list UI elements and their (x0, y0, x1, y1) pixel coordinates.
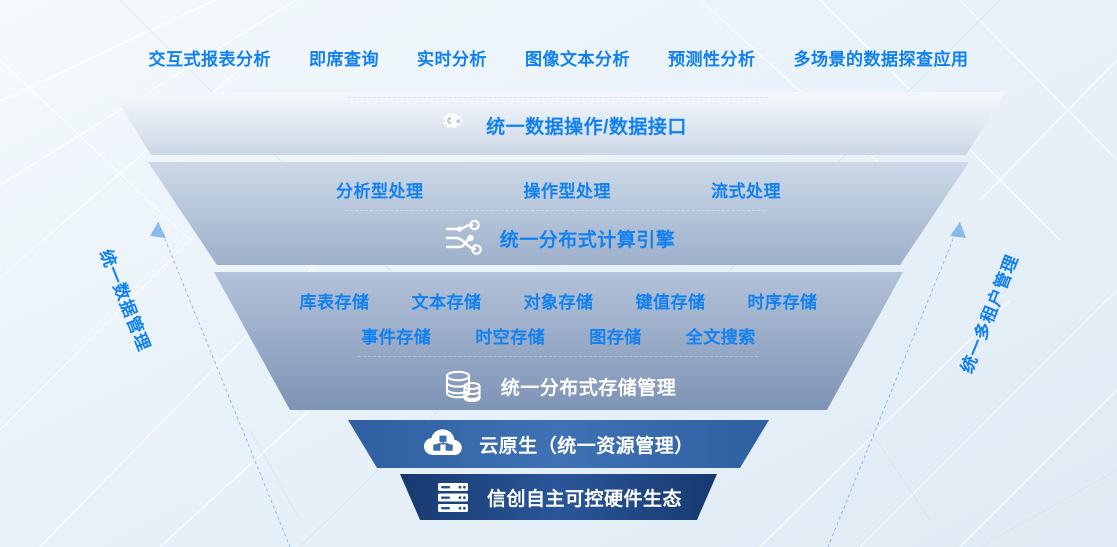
band-title-hardware: 信创自主可控硬件生态 (487, 484, 682, 511)
top-tag-2[interactable]: 实时分析 (417, 45, 487, 70)
storage-tag-1[interactable]: 文本存储 (412, 288, 482, 313)
storage-tag-0[interactable]: 库表存储 (300, 288, 370, 313)
storage-tag-5[interactable]: 事件存储 (361, 323, 431, 348)
top-tag-5[interactable]: 多场景的数据探查应用 (794, 45, 969, 70)
band-title-data-interface: 统一数据操作/数据接口 (486, 112, 687, 139)
band1-divider (348, 97, 768, 98)
band-data-interface[interactable]: 统一数据操作/数据接口 (0, 108, 1117, 142)
storage-tag-6[interactable]: 时空存储 (475, 323, 545, 348)
top-tag-3[interactable]: 图像文本分析 (525, 45, 630, 70)
server-rack-icon (435, 480, 471, 514)
storage-tag-2[interactable]: 对象存储 (524, 288, 594, 313)
funnel-shapes (0, 0, 1117, 547)
band-compute-tags: 分析型处理 操作型处理 流式处理 (0, 177, 1117, 202)
compute-tag-0[interactable]: 分析型处理 (336, 177, 424, 202)
band-title-compute: 统一分布式计算引擎 (500, 225, 676, 252)
band-hardware[interactable]: 信创自主可控硬件生态 (0, 479, 1117, 515)
band3-divider (358, 356, 758, 357)
architecture-funnel-diagram: 交互式报表分析 即席查询 实时分析 图像文本分析 预测性分析 多场景的数据探查应… (0, 0, 1117, 547)
gears-icon (430, 110, 470, 140)
top-tag-4[interactable]: 预测性分析 (668, 45, 756, 70)
storage-tag-7[interactable]: 图存储 (589, 323, 642, 348)
band-title-cloud-native: 云原生（统一资源管理） (479, 431, 694, 458)
band-storage-tags-row1: 库表存储 文本存储 对象存储 键值存储 时序存储 (0, 288, 1117, 313)
band-storage-tags-row2: 事件存储 时空存储 图存储 全文搜索 (0, 323, 1117, 348)
band-storage[interactable]: 统一分布式存储管理 (0, 367, 1117, 405)
cloud-nodes-icon (423, 428, 463, 460)
band-compute[interactable]: 统一分布式计算引擎 (0, 220, 1117, 256)
database-icon (441, 366, 485, 406)
storage-tag-3[interactable]: 键值存储 (636, 288, 706, 313)
compute-tag-1[interactable]: 操作型处理 (524, 177, 612, 202)
band-title-storage: 统一分布式存储管理 (501, 373, 677, 400)
storage-tag-4[interactable]: 时序存储 (748, 288, 818, 313)
band2-divider (345, 210, 765, 211)
compute-nodes-icon (442, 219, 484, 257)
storage-tag-8[interactable]: 全文搜索 (686, 323, 756, 348)
band-cloud-native[interactable]: 云原生（统一资源管理） (0, 426, 1117, 462)
top-tag-1[interactable]: 即席查询 (309, 45, 379, 70)
top-tag-0[interactable]: 交互式报表分析 (149, 45, 272, 70)
top-application-row: 交互式报表分析 即席查询 实时分析 图像文本分析 预测性分析 多场景的数据探查应… (0, 45, 1117, 70)
compute-tag-2[interactable]: 流式处理 (711, 177, 781, 202)
